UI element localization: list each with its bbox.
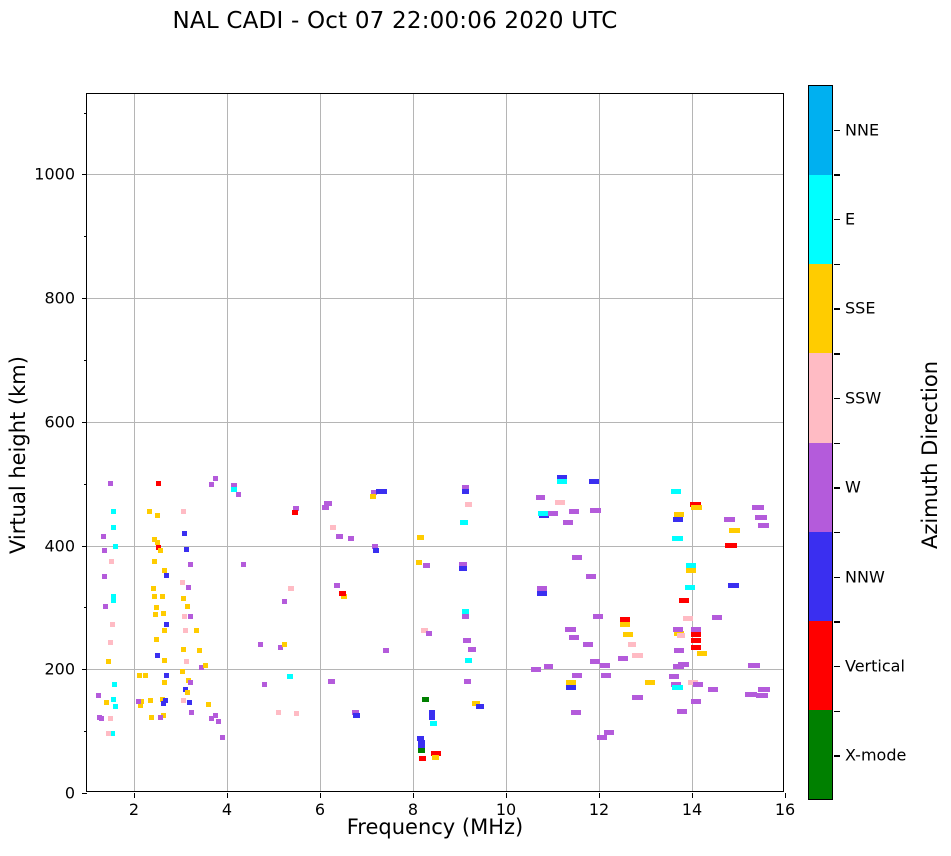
ionogram-echo-mark [459, 566, 466, 571]
ionogram-echo-mark [758, 523, 769, 528]
y-minor-tick [84, 731, 87, 732]
colorbar-boundary-tick [834, 174, 840, 175]
ionogram-echo-mark [601, 673, 611, 678]
y-minor-tick [84, 484, 87, 485]
ionogram-echo-mark [416, 560, 423, 565]
ionogram-echo-mark [161, 611, 166, 616]
ionogram-echo-mark [752, 505, 764, 510]
ionogram-echo-mark [370, 494, 377, 499]
ionogram-echo-mark [462, 489, 469, 494]
ionogram-echo-mark [276, 710, 281, 715]
ionogram-echo-mark [137, 673, 142, 678]
ionogram-echo-mark [376, 489, 386, 494]
ionogram-echo-mark [187, 700, 192, 705]
ionogram-echo-mark [162, 628, 167, 633]
ionogram-echo-mark [154, 637, 159, 642]
y-tick-label: 600 [44, 413, 75, 432]
y-minor-tick [84, 360, 87, 361]
y-minor-tick [84, 113, 87, 114]
ionogram-echo-mark [417, 535, 424, 540]
ionogram-echo-mark [188, 680, 193, 685]
x-tick [134, 793, 135, 798]
colorbar-tick [834, 666, 840, 667]
ionogram-echo-mark [96, 693, 101, 698]
ionogram-echo-mark [322, 505, 329, 510]
x-axis-label: Frequency (MHz) [86, 815, 784, 839]
ionogram-echo-mark [188, 614, 193, 619]
ionogram-echo-mark [106, 659, 111, 664]
ionogram-echo-mark [213, 476, 218, 481]
colorbar-boundary-tick [834, 711, 840, 712]
ionogram-echo-mark [282, 642, 287, 647]
y-minor-tick [84, 607, 87, 608]
ionogram-echo-mark [571, 710, 581, 715]
ionogram-echo-mark [147, 509, 152, 514]
plot-area: 24681012141602004006008001000 [86, 93, 784, 792]
ionogram-echo-mark [632, 695, 642, 700]
ionogram-echo-mark [426, 631, 433, 636]
y-minor-tick [84, 236, 87, 237]
ionogram-echo-mark [544, 664, 553, 669]
ionogram-echo-mark [241, 562, 246, 567]
ionogram-echo-mark [586, 574, 596, 579]
colorbar-boundary-tick [834, 532, 840, 533]
colorbar-label: Azimuth Direction [918, 305, 942, 605]
colorbar-tick-label-nnw: NNW [845, 567, 885, 586]
ionogram-echo-mark [181, 647, 186, 652]
colorbar-band-e [809, 175, 832, 264]
ionogram-echo-mark [677, 709, 687, 714]
ionogram-echo-mark [288, 586, 294, 591]
y-tick-label: 0 [65, 784, 75, 803]
ionogram-echo-mark [671, 489, 681, 494]
ionogram-echo-mark [258, 642, 263, 647]
x-tick [320, 793, 321, 798]
ionogram-echo-mark [152, 594, 157, 599]
ionogram-echo-mark [383, 648, 390, 653]
ionogram-echo-mark [600, 663, 610, 668]
ionogram-echo-mark [181, 698, 186, 703]
ionogram-echo-mark [162, 658, 167, 663]
colorbar-band-sse [809, 264, 832, 353]
colorbar-tick [834, 398, 840, 399]
colorbar-band-nnw [809, 532, 832, 621]
ionogram-echo-mark [755, 515, 767, 520]
ionogram-echo-mark [465, 502, 472, 507]
colorbar-tick [834, 219, 840, 220]
colorbar-tick [834, 308, 840, 309]
ionogram-echo-mark [194, 628, 199, 633]
ionogram-echo-mark [111, 598, 116, 603]
ionogram-echo-mark [336, 534, 343, 539]
ionogram-echo-mark [111, 509, 116, 514]
ionogram-echo-mark [597, 735, 607, 740]
colorbar-tick-label-sse: SSE [845, 299, 875, 318]
ionogram-echo-mark [590, 508, 601, 513]
x-tick [599, 793, 600, 798]
ionogram-echo-mark [672, 536, 682, 541]
ionogram-echo-mark [620, 622, 630, 627]
ionogram-echo-mark [184, 547, 189, 552]
ionogram-echo-mark [565, 627, 575, 632]
ionogram-echo-mark [691, 645, 701, 650]
ionogram-echo-mark [557, 479, 567, 484]
ionogram-echo-mark [691, 632, 701, 637]
ionogram-echo-mark [155, 513, 160, 518]
ionogram-echo-mark [678, 662, 689, 667]
ionogram-echo-mark [583, 642, 593, 647]
ionogram-echo-mark [113, 544, 118, 549]
ionogram-echo-mark [209, 716, 214, 721]
ionogram-echo-mark [422, 697, 429, 702]
ionogram-echo-mark [334, 583, 341, 588]
ionogram-echo-mark [108, 640, 113, 645]
y-tick [82, 174, 87, 175]
ionogram-echo-mark [632, 653, 642, 658]
ionogram-echo-mark [148, 698, 153, 703]
ionogram-echo-mark [181, 596, 186, 601]
ionogram-echo-mark [572, 555, 582, 560]
y-tick [82, 422, 87, 423]
colorbar-band-nne [809, 86, 832, 175]
ionogram-echo-mark [729, 528, 740, 533]
y-tick [82, 669, 87, 670]
ionogram-echo-mark [282, 599, 287, 604]
ionogram-echo-mark [618, 656, 628, 661]
ionogram-echo-mark [182, 614, 187, 619]
ionogram-echo-mark [101, 534, 106, 539]
x-tick [506, 793, 507, 798]
ionogram-echo-mark [673, 517, 683, 522]
ionogram-echo-mark [149, 715, 154, 720]
ionogram-echo-mark [160, 594, 165, 599]
colorbar-boundary-tick [834, 443, 840, 444]
ionogram-echo-mark [464, 679, 471, 684]
ionogram-echo-mark [697, 651, 707, 656]
ionogram-echo-mark [685, 585, 695, 590]
ionogram-echo-mark [113, 704, 118, 709]
colorbar-band-w [809, 443, 832, 532]
ionogram-echo-mark [673, 627, 683, 632]
ionogram-figure: NAL CADI - Oct 07 22:00:06 2020 UTC 2468… [0, 0, 951, 856]
ionogram-echo-mark [476, 704, 484, 709]
ionogram-echo-mark [677, 633, 685, 638]
ionogram-echo-mark [152, 559, 157, 564]
ionogram-echo-mark [569, 509, 579, 514]
colorbar-boundary-tick [834, 353, 840, 354]
ionogram-echo-mark [430, 721, 437, 726]
ionogram-echo-mark [348, 536, 355, 541]
ionogram-echo-mark [185, 604, 190, 609]
ionogram-echo-mark [164, 673, 169, 678]
ionogram-echo-mark [236, 492, 242, 497]
ionogram-echo-mark [563, 520, 573, 525]
y-tick [82, 298, 87, 299]
ionogram-echo-mark [189, 710, 194, 715]
ionogram-echo-mark [460, 520, 467, 525]
ionogram-echo-mark [184, 659, 189, 664]
ionogram-echo-mark [111, 697, 116, 702]
y-tick-label: 400 [44, 537, 75, 556]
ionogram-echo-mark [465, 658, 472, 663]
ionogram-echo-mark [463, 638, 471, 643]
ionogram-echo-mark [429, 715, 436, 720]
ionogram-echo-mark [102, 574, 107, 579]
ionogram-echo-mark [216, 719, 221, 724]
ionogram-echo-mark [432, 755, 439, 760]
ionogram-echo-mark [373, 548, 380, 553]
colorbar-boundary-tick [834, 264, 840, 265]
ionogram-echo-mark [143, 673, 148, 678]
ionogram-echo-mark [181, 509, 186, 514]
ionogram-echo-mark [197, 648, 202, 653]
ionogram-echo-mark [136, 699, 141, 704]
ionogram-echo-mark [462, 614, 469, 619]
colorbar-tick-label-e: E [845, 210, 855, 229]
ionogram-echo-mark [151, 586, 156, 591]
colorbar-tick-label-vertical: Vertical [845, 656, 905, 675]
ionogram-echo-mark [164, 573, 169, 578]
y-tick-label: 1000 [34, 165, 75, 184]
ionogram-echo-mark [103, 604, 108, 609]
ionogram-echo-mark [294, 711, 299, 716]
ionogram-echo-mark [756, 693, 768, 698]
y-tick-label: 200 [44, 660, 75, 679]
ionogram-echo-mark [99, 716, 104, 721]
ionogram-echo-mark [106, 731, 111, 736]
page-title: NAL CADI - Oct 07 22:00:06 2020 UTC [0, 8, 790, 34]
ionogram-echo-mark [728, 583, 739, 588]
ionogram-echo-mark [758, 687, 770, 692]
ionogram-echo-mark [645, 680, 655, 685]
ionogram-echo-mark [569, 635, 579, 640]
ionogram-echo-mark [590, 659, 600, 664]
ionogram-echo-mark [328, 679, 335, 684]
data-layer [87, 94, 783, 791]
ionogram-echo-mark [161, 701, 166, 706]
ionogram-echo-mark [683, 616, 693, 621]
ionogram-echo-mark [531, 667, 540, 672]
colorbar-tick [834, 487, 840, 488]
colorbar-band-vertical [809, 621, 832, 710]
colorbar-boundary-tick [834, 621, 840, 622]
ionogram-echo-mark [180, 669, 185, 674]
ionogram-echo-mark [725, 543, 736, 548]
y-tick-label: 800 [44, 289, 75, 308]
ionogram-echo-mark [162, 680, 167, 685]
ionogram-echo-mark [423, 563, 430, 568]
ionogram-echo-mark [154, 605, 159, 610]
x-tick [785, 793, 786, 798]
y-tick [82, 793, 87, 794]
ionogram-echo-mark [628, 642, 636, 647]
ionogram-echo-mark [203, 663, 208, 668]
ionogram-echo-mark [672, 685, 682, 690]
colorbar-tick-label-ssw: SSW [845, 388, 881, 407]
ionogram-echo-mark [158, 715, 163, 720]
ionogram-echo-mark [110, 622, 115, 627]
ionogram-echo-mark [548, 511, 558, 516]
ionogram-echo-mark [566, 685, 576, 690]
ionogram-echo-mark [156, 481, 161, 486]
colorbar-tick [834, 755, 840, 756]
colorbar-tick-label-x-mode: X-mode [845, 746, 906, 765]
ionogram-echo-mark [112, 682, 117, 687]
colorbar-tick [834, 577, 840, 578]
ionogram-echo-mark [180, 580, 185, 585]
ionogram-echo-mark [418, 748, 425, 753]
ionogram-echo-mark [691, 699, 701, 704]
ionogram-echo-mark [538, 511, 547, 516]
ionogram-echo-mark [593, 614, 603, 619]
ionogram-echo-mark [102, 548, 107, 553]
ionogram-echo-mark [572, 673, 582, 678]
ionogram-echo-mark [185, 690, 190, 695]
ionogram-echo-mark [292, 510, 298, 515]
ionogram-echo-mark [209, 482, 214, 487]
ionogram-echo-mark [339, 591, 346, 596]
ionogram-echo-mark [155, 653, 160, 658]
ionogram-echo-mark [691, 638, 701, 643]
ionogram-echo-mark [108, 716, 113, 721]
colorbar-tick-label-w: W [845, 478, 861, 497]
ionogram-echo-mark [669, 674, 679, 679]
ionogram-echo-mark [419, 756, 426, 761]
ionogram-echo-mark [536, 495, 545, 500]
ionogram-echo-mark [186, 585, 191, 590]
ionogram-echo-mark [182, 531, 187, 536]
ionogram-echo-mark [708, 687, 718, 692]
ionogram-echo-mark [686, 568, 696, 573]
ionogram-echo-mark [287, 674, 293, 679]
ionogram-echo-mark [693, 682, 703, 687]
ionogram-echo-mark [623, 632, 633, 637]
colorbar-tick [834, 130, 840, 131]
ionogram-echo-mark [231, 487, 237, 492]
ionogram-echo-mark [748, 663, 760, 668]
ionogram-echo-mark [108, 481, 113, 486]
ionogram-echo-mark [206, 702, 211, 707]
x-tick [692, 793, 693, 798]
y-axis-label: Virtual height (km) [6, 305, 30, 605]
ionogram-echo-mark [109, 559, 114, 564]
colorbar-band-x-mode [809, 710, 832, 799]
ionogram-echo-mark [153, 612, 158, 617]
colorbar-tick-label-nne: NNE [845, 120, 879, 139]
ionogram-echo-mark [712, 615, 722, 620]
ionogram-echo-mark [353, 713, 360, 718]
ionogram-echo-mark [330, 525, 337, 530]
ionogram-echo-mark [724, 517, 735, 522]
ionogram-echo-mark [468, 647, 476, 652]
ionogram-echo-mark [164, 622, 169, 627]
ionogram-echo-mark [589, 479, 599, 484]
ionogram-echo-mark [691, 505, 702, 510]
x-tick [413, 793, 414, 798]
ionogram-echo-mark [262, 682, 267, 687]
ionogram-echo-mark [104, 700, 109, 705]
y-tick [82, 546, 87, 547]
ionogram-echo-mark [188, 562, 193, 567]
ionogram-echo-mark [679, 598, 689, 603]
colorbar [808, 85, 833, 800]
ionogram-echo-mark [158, 548, 163, 553]
ionogram-echo-mark [111, 525, 116, 530]
x-tick [227, 793, 228, 798]
ionogram-echo-mark [674, 648, 684, 653]
ionogram-echo-mark [555, 500, 565, 505]
ionogram-echo-mark [537, 591, 546, 596]
colorbar-band-ssw [809, 353, 832, 442]
ionogram-echo-mark [220, 735, 225, 740]
ionogram-echo-mark [183, 628, 188, 633]
ionogram-echo-mark [110, 731, 115, 736]
